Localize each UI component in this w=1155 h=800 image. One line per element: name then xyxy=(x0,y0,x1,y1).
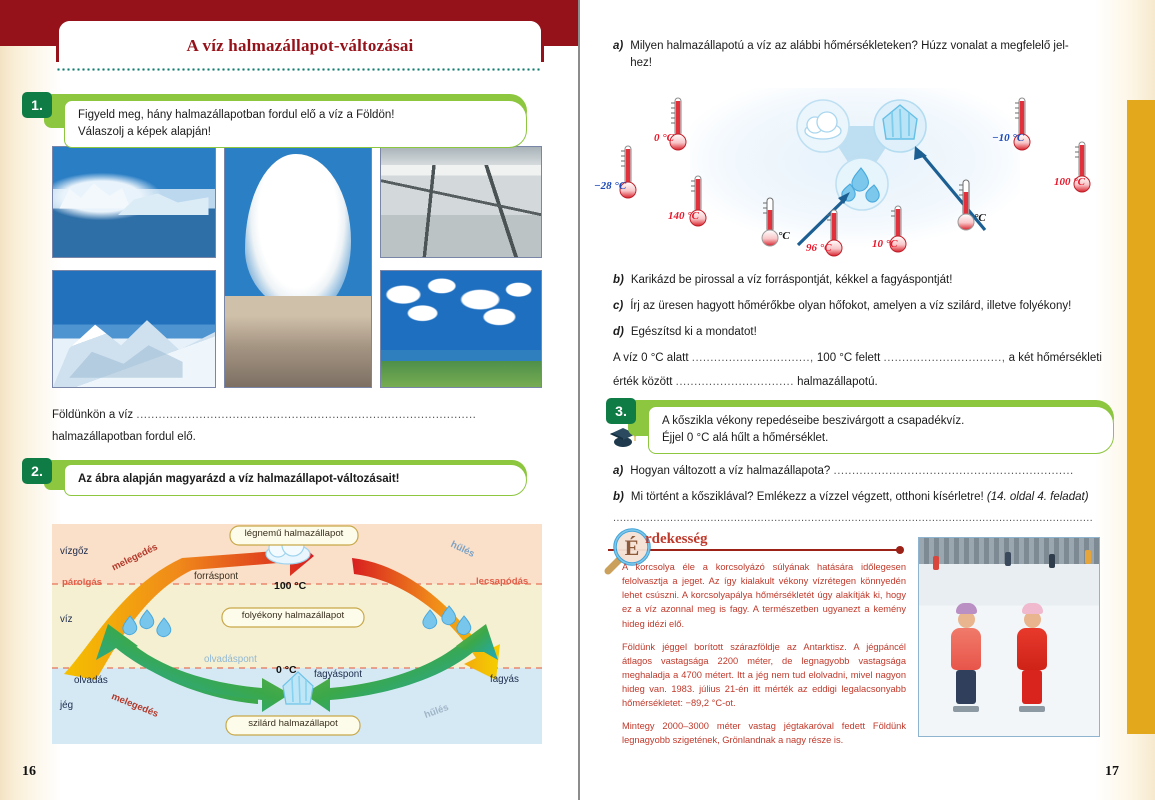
task-3-b-answer-blank[interactable]: ........................................… xyxy=(613,512,1113,524)
question-c: c) Írj az üresen hagyott hőmérőkbe olyan… xyxy=(613,298,1123,315)
fact-box-text: A korcsolya éle a korcsolyázó súlyának h… xyxy=(622,560,906,757)
question-b-text: Karikázd be pirossal a víz forráspontját… xyxy=(631,272,953,289)
sentence-part-5: halmazállapotú. xyxy=(797,376,878,388)
thermometer-empty-2-value[interactable]: °C xyxy=(974,212,986,224)
background-skater-3 xyxy=(1049,554,1055,568)
sentence-part-3: a két hőmérsékleti xyxy=(1009,352,1102,364)
right-page: a) Milyen halmazállapotú a víz az alábbi… xyxy=(580,0,1155,800)
task-1-number: 1. xyxy=(22,92,52,118)
task-3-line-2: Éjjel 0 °C alá hűlt a hőmérséklet. xyxy=(662,430,1101,447)
geyser-steam-photo xyxy=(224,146,372,388)
sentence-blank-3[interactable]: ................................ xyxy=(676,376,794,388)
water-label: víz xyxy=(60,614,73,625)
freezing-label: fagyás xyxy=(490,674,519,685)
task-3-b-reference: (14. oldal 4. feladat) xyxy=(987,491,1089,503)
fact-paragraph-2: Földünk jéggel borított szárazföldje az … xyxy=(622,640,906,711)
question-d: d) Egészítsd ki a mondatot! xyxy=(613,324,1113,341)
cloud-state-icon xyxy=(797,100,849,152)
question-a-line-2: hez! xyxy=(630,57,652,69)
condensation-label: lecsapódás xyxy=(476,576,528,587)
solid-state-label: szilárd halmazállapot xyxy=(230,718,356,729)
fact-paragraph-1: A korcsolya éle a korcsolyázó súlyának h… xyxy=(622,560,906,631)
thermometer-10c-value[interactable]: 10 °C xyxy=(872,238,898,250)
fill-sentence-part-2: halmazállapotban fordul elő. xyxy=(52,431,196,443)
cracked-ice-field-photo xyxy=(380,146,542,258)
task-3-line-1: A kőszikla vékony repedéseibe beszivárgo… xyxy=(662,413,1101,430)
sentence-part-4: érték között xyxy=(613,376,672,388)
fact-box-title: rdekesség xyxy=(645,531,708,548)
task-1-box: Figyeld meg, hány halmazállapotban fordu… xyxy=(64,100,527,148)
boiling-point-value: 100 °C xyxy=(274,580,306,592)
task-1-line-2: Válaszolj a képek alapján! xyxy=(78,124,514,141)
textbook-spread: A víz halmazállapot-változásai 1. Figyel… xyxy=(0,0,1155,800)
page-title: A víz halmazállapot-változásai xyxy=(56,36,544,56)
task-3-box: A kőszikla vékony repedéseibe beszivárgo… xyxy=(648,406,1114,454)
thermometer-96c-value[interactable]: 96 °C xyxy=(806,242,832,254)
sentence-blank-2[interactable]: ................................, xyxy=(884,352,1006,364)
task-1: 1. Figyeld meg, hány halmazállapotban fo… xyxy=(22,92,527,138)
glacier-iceberg-photo xyxy=(52,146,216,258)
question-a-line-1: Milyen halmazállapotú a víz az alábbi hő… xyxy=(630,40,1069,52)
water-state-cycle-diagram: légnemű halmazállapot folyékony halmazál… xyxy=(52,524,542,744)
ice-crystal-state-icon xyxy=(874,100,926,152)
thermometer-empty-1-value[interactable]: °C xyxy=(778,230,790,242)
freezing-point-label: fagyáspont xyxy=(314,669,362,680)
question-b: b) Karikázd be pirossal a víz forráspont… xyxy=(613,272,1113,289)
task-2: 2. Az ábra alapján magyarázd a víz halma… xyxy=(22,458,527,492)
title-dotted-rule xyxy=(56,68,542,71)
page-number-right: 17 xyxy=(1105,764,1119,780)
left-page: A víz halmazállapot-változásai 1. Figyel… xyxy=(0,0,578,800)
gold-side-bar xyxy=(1127,100,1155,734)
fill-sentence-dots[interactable]: ........................................… xyxy=(136,409,476,421)
question-b-label: b) xyxy=(613,272,624,289)
photo-grid xyxy=(52,146,542,388)
melting-point-label: olvadáspont xyxy=(204,654,257,665)
temperature-diagram-svg xyxy=(610,80,1122,266)
thermometer-minus28c-value[interactable]: −28 °C xyxy=(594,180,626,192)
clouds-over-meadow-photo xyxy=(380,270,542,388)
svg-text:É: É xyxy=(625,535,640,560)
task-3-number: 3. xyxy=(606,398,636,424)
fact-paragraph-3: Mintegy 2000–3000 méter vastag jégtakaró… xyxy=(622,719,906,747)
thermometer-minus10c-value[interactable]: −10 °C xyxy=(992,132,1024,144)
question-c-text: Írj az üresen hagyott hőmérőkbe olyan hő… xyxy=(630,298,1071,315)
task-3-b-text: Mi történt a kősziklával? Emlékezz a víz… xyxy=(631,491,984,503)
question-a: a) Milyen halmazállapotú a víz az alábbi… xyxy=(613,38,1118,73)
task-3-b-label: b) xyxy=(613,489,624,506)
question-d-label: d) xyxy=(613,324,624,341)
task-2-number: 2. xyxy=(22,458,52,484)
question-c-label: c) xyxy=(613,298,623,315)
fill-sentence-part-1: Földünkön a víz xyxy=(52,409,133,421)
thermometer-100c-value[interactable]: 100 °C xyxy=(1054,176,1085,188)
task-3-question-b: b) Mi történt a kősziklával? Emlékezz a … xyxy=(613,489,1128,506)
sentence-blank-1[interactable]: ................................, xyxy=(692,352,814,364)
freezing-point-value: 0 °C xyxy=(276,664,297,676)
fill-in-sentence-2: A víz 0 °C alatt .......................… xyxy=(613,346,1121,394)
task-3-a-label: a) xyxy=(613,463,623,480)
question-d-text: Egészítsd ki a mondatot! xyxy=(631,324,757,341)
girl-right xyxy=(1017,611,1047,712)
vapour-label: vízgőz xyxy=(60,546,88,557)
task-3-a-blank[interactable]: ........................................… xyxy=(834,465,1074,477)
background-skater-4 xyxy=(1085,550,1091,564)
background-skater-1 xyxy=(933,556,939,570)
task-1-line-1: Figyeld meg, hány halmazállapotban fordu… xyxy=(78,107,514,124)
task-3-question-a: a) Hogyan változott a víz halmazállapota… xyxy=(613,463,1123,480)
question-a-label: a) xyxy=(613,38,623,73)
task-2-box: Az ábra alapján magyarázd a víz halmazál… xyxy=(64,464,527,496)
two-girls-ice-skating-photo xyxy=(918,537,1100,737)
background-skater-2 xyxy=(1005,552,1011,566)
melting-label: olvadás xyxy=(74,675,108,686)
sentence-part-2: 100 °C felett xyxy=(817,352,880,364)
gas-state-label: légnemű halmazállapot xyxy=(234,528,354,539)
girl-left xyxy=(951,611,981,712)
task-3: 3. A kőszikla vékony repedéseibe beszivá… xyxy=(606,398,1114,446)
thermometer-140c-value[interactable]: 140 °C xyxy=(668,210,699,222)
sentence-part-1: A víz 0 °C alatt xyxy=(613,352,689,364)
task-3-a-text: Hogyan változott a víz halmazállapota? xyxy=(630,465,830,477)
temperature-diagram: 0 °C −28 °C 140 °C °C 96 °C 10 °C °C −10… xyxy=(610,80,1122,266)
boiling-point-label: forráspont xyxy=(194,571,238,582)
ice-rink-surface xyxy=(919,538,1099,736)
thermometer-0c-value[interactable]: 0 °C xyxy=(654,132,674,144)
snowy-mountain-peak-photo xyxy=(52,270,216,388)
page-number-left: 16 xyxy=(22,764,36,780)
ice-label: jég xyxy=(60,700,73,711)
evaporation-label: párolgás xyxy=(62,577,102,588)
fill-in-sentence-1: Földünkön a víz ........................… xyxy=(52,404,550,449)
liquid-state-label: folyékony halmazállapot xyxy=(226,610,360,621)
